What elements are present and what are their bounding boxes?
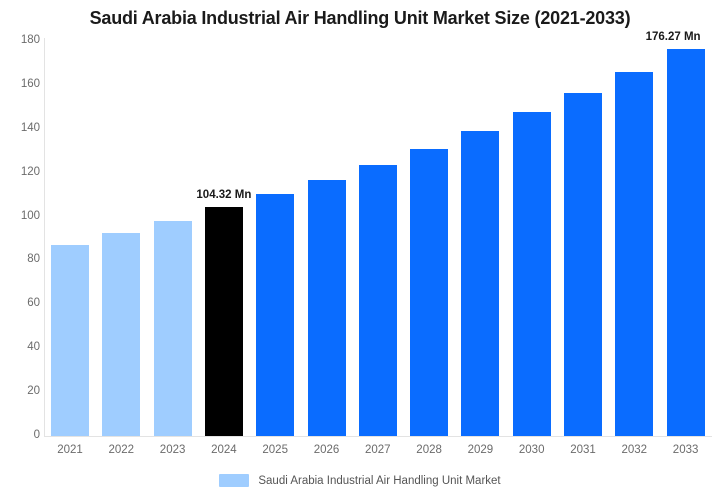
bar-2030[interactable]	[513, 112, 551, 436]
bar-2033[interactable]	[667, 49, 705, 436]
bar-rect	[461, 131, 499, 436]
y-axis-tick-label: 120	[6, 166, 40, 178]
y-axis-tick-label: 160	[6, 78, 40, 90]
x-axis-tick-label-2029: 2029	[461, 444, 499, 456]
y-axis-tick-label: 20	[6, 385, 40, 397]
x-axis-tick-label-2033: 2033	[667, 444, 705, 456]
bar-2027[interactable]	[359, 165, 397, 436]
bar-rect	[51, 245, 89, 436]
y-axis-tick-label: 100	[6, 210, 40, 222]
y-axis-tick-label: 40	[6, 341, 40, 353]
x-axis-tick-label-2025: 2025	[256, 444, 294, 456]
bar-rect	[410, 149, 448, 436]
bar-value-label-2033: 176.27 Mn	[646, 31, 701, 43]
x-axis-tick-label-2027: 2027	[359, 444, 397, 456]
bar-2031[interactable]	[564, 93, 602, 436]
bar-rect	[308, 180, 346, 436]
bar-rect	[102, 233, 140, 436]
bar-2032[interactable]	[615, 72, 653, 436]
bar-rect	[154, 221, 192, 436]
y-axis-tick-label: 180	[6, 34, 40, 46]
bar-rect	[615, 72, 653, 436]
bar-rect	[205, 207, 243, 436]
bar-2028[interactable]	[410, 149, 448, 436]
x-axis-tick-label-2022: 2022	[102, 444, 140, 456]
bar-rect	[359, 165, 397, 436]
bar-2024[interactable]	[205, 207, 243, 436]
bar-2022[interactable]	[102, 233, 140, 436]
y-axis-tick-label: 80	[6, 253, 40, 265]
bar-rect	[667, 49, 705, 436]
x-axis-tick-label-2023: 2023	[154, 444, 192, 456]
bar-value-label-2024: 104.32 Mn	[196, 189, 251, 201]
bar-2025[interactable]	[256, 194, 294, 436]
x-axis-tick-label-2026: 2026	[308, 444, 346, 456]
x-axis-tick-label-2031: 2031	[564, 444, 602, 456]
x-axis-tick-label-2021: 2021	[51, 444, 89, 456]
x-axis-tick-label-2024: 2024	[205, 444, 243, 456]
x-axis-tick-label-2032: 2032	[615, 444, 653, 456]
bar-rect	[564, 93, 602, 436]
y-axis-tick-label: 60	[6, 297, 40, 309]
legend-swatch[interactable]	[219, 474, 249, 487]
bar-rect	[513, 112, 551, 436]
plot-area: 020406080100120140160180 104.32 Mn176.27…	[0, 0, 720, 500]
chart-container: Saudi Arabia Industrial Air Handling Uni…	[0, 0, 720, 500]
bar-rect	[256, 194, 294, 436]
bar-2029[interactable]	[461, 131, 499, 436]
y-axis-tick-label: 0	[6, 429, 40, 441]
bar-2026[interactable]	[308, 180, 346, 436]
bar-2023[interactable]	[154, 221, 192, 436]
x-axis-tick-label-2030: 2030	[513, 444, 551, 456]
y-axis-tick-label: 140	[6, 122, 40, 134]
chart-legend: Saudi Arabia Industrial Air Handling Uni…	[0, 474, 720, 487]
bars-layer: 104.32 Mn176.27 Mn	[44, 0, 712, 500]
x-axis-tick-label-2028: 2028	[410, 444, 448, 456]
bar-2021[interactable]	[51, 245, 89, 436]
legend-label[interactable]: Saudi Arabia Industrial Air Handling Uni…	[258, 475, 500, 487]
